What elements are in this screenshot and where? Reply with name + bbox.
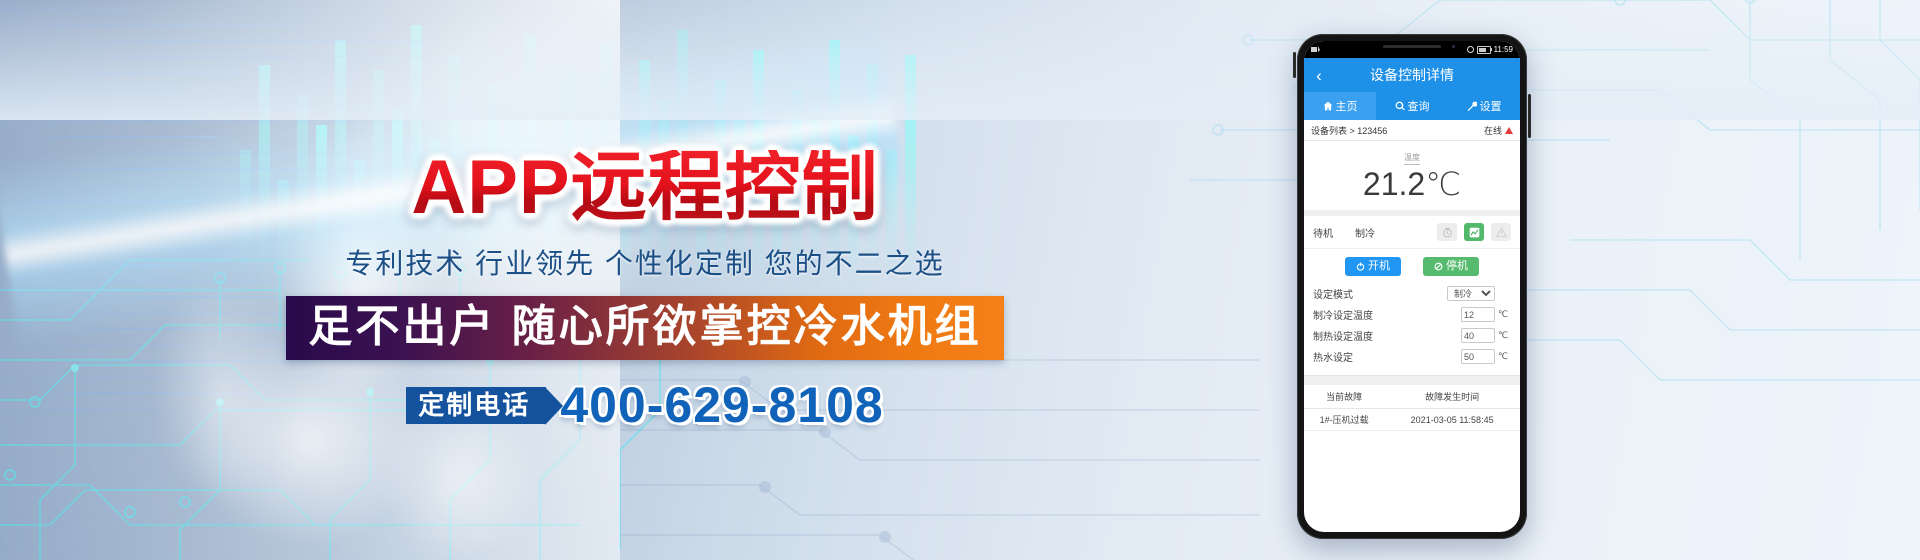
promo-text-block: APP远程控制 专利技术 行业领先 个性化定制 您的不二之选 足不出户 随心所欲… [0, 150, 1290, 430]
cool-temp-input[interactable] [1461, 307, 1495, 322]
setting-label-hot-water: 热水设定 [1313, 349, 1461, 364]
unit-hot-water: ℃ [1495, 351, 1511, 362]
heat-temp-input[interactable] [1461, 328, 1495, 343]
promo-ribbon-headline: 足不出户 随心所欲掌控冷水机组 [286, 296, 1003, 360]
temperature-value: 21.2℃ [1304, 168, 1520, 200]
tab-query-label: 查询 [1408, 98, 1430, 114]
stop-icon [1434, 262, 1443, 271]
fault-time-cell: 2021-03-05 11:58:45 [1384, 409, 1520, 431]
tab-settings-label: 设置 [1480, 98, 1502, 114]
warning-icon[interactable] [1505, 127, 1513, 134]
setting-row-mode: 设定模式 制冷 [1304, 283, 1520, 304]
connection-status-label: 在线 [1484, 124, 1502, 137]
status-bar: 11:59 [1304, 41, 1520, 58]
fault-table-header-row: 当前故障 故障发生时间 [1304, 385, 1520, 409]
tab-settings[interactable]: 设置 [1448, 92, 1520, 120]
mode-select[interactable]: 制冷 [1447, 286, 1495, 301]
status-bar-left-icons [1311, 46, 1320, 53]
power-icon [1356, 262, 1365, 271]
current-mode-label: 制冷 [1355, 225, 1375, 240]
chart-icon-button[interactable] [1464, 223, 1484, 241]
setting-label-cool-temp: 制冷设定温度 [1313, 307, 1461, 322]
tel-number[interactable]: 400-629-8108 [560, 380, 883, 430]
power-off-label: 停机 [1446, 261, 1468, 272]
alarm-icon [1496, 227, 1507, 238]
fault-column-time: 故障发生时间 [1384, 385, 1520, 409]
home-icon [1323, 101, 1333, 111]
fault-column-name: 当前故障 [1304, 385, 1384, 409]
section-divider [1304, 375, 1520, 385]
breadcrumb[interactable]: 设备列表 > 123456 [1311, 124, 1387, 137]
setting-label-mode: 设定模式 [1313, 286, 1447, 301]
sim-card-icon [1311, 46, 1320, 53]
wrench-icon [1467, 101, 1477, 111]
power-on-label: 开机 [1368, 261, 1390, 272]
back-button[interactable]: ‹ [1304, 67, 1334, 84]
battery-icon [1477, 46, 1491, 54]
location-icon [1467, 46, 1474, 53]
status-bar-right-icons: 11:59 [1467, 45, 1513, 54]
power-action-row: 开机 停机 [1304, 249, 1520, 283]
setting-row-heat-temp: 制热设定温度 ℃ [1304, 325, 1520, 346]
tab-home[interactable]: 主页 [1304, 92, 1376, 120]
front-camera-dot [1452, 45, 1455, 48]
tel-tag-label: 定制电话 [406, 387, 546, 424]
phone-mockup: 11:59 ‹ 设备控制详情 主页 查询 设置 [1297, 34, 1527, 539]
fault-name-cell: 1#-压机过载 [1304, 409, 1384, 431]
ribbon-wrapper: 足不出户 随心所欲掌控冷水机组 [0, 296, 1290, 360]
fault-table: 当前故障 故障发生时间 1#-压机过载 2021-03-05 11:58:45 [1304, 385, 1520, 431]
unit-cool-temp: ℃ [1495, 309, 1511, 320]
search-icon [1395, 101, 1405, 111]
standby-state-label: 待机 [1313, 225, 1333, 240]
timer-icon-button[interactable] [1437, 223, 1457, 241]
setting-label-heat-temp: 制热设定温度 [1313, 328, 1461, 343]
alarm-icon-button[interactable] [1491, 223, 1511, 241]
tab-home-label: 主页 [1336, 98, 1358, 114]
setting-row-hot-water: 热水设定 ℃ [1304, 346, 1520, 367]
contact-row: 定制电话 400-629-8108 [0, 380, 1290, 430]
setting-row-cool-temp: 制冷设定温度 ℃ [1304, 304, 1520, 325]
app-bar: ‹ 设备控制详情 [1304, 58, 1520, 92]
table-row[interactable]: 1#-压机过载 2021-03-05 11:58:45 [1304, 409, 1520, 431]
breadcrumb-bar: 设备列表 > 123456 在线 [1304, 120, 1520, 141]
promo-banner: APP远程控制 专利技术 行业领先 个性化定制 您的不二之选 足不出户 随心所欲… [0, 0, 1920, 560]
quick-icon-buttons [1437, 223, 1511, 241]
phone-screen: 11:59 ‹ 设备控制详情 主页 查询 设置 [1304, 41, 1520, 532]
chart-icon [1469, 227, 1480, 238]
temperature-label: 温度 [1404, 152, 1420, 165]
promo-subtitle: 专利技术 行业领先 个性化定制 您的不二之选 [0, 242, 1290, 282]
timer-icon [1442, 227, 1453, 238]
power-off-button[interactable]: 停机 [1423, 257, 1479, 276]
temperature-card: 温度 21.2℃ [1304, 141, 1520, 216]
tab-bar: 主页 查询 设置 [1304, 92, 1520, 120]
unit-heat-temp: ℃ [1495, 330, 1511, 341]
hot-water-input[interactable] [1461, 349, 1495, 364]
page-title: APP远程控制 [0, 150, 1290, 226]
tab-query[interactable]: 查询 [1376, 92, 1448, 120]
power-on-button[interactable]: 开机 [1345, 257, 1401, 276]
connection-status-badge: 在线 [1484, 124, 1513, 137]
speaker-notch [1383, 45, 1441, 48]
device-state-row: 待机 制冷 [1304, 216, 1520, 249]
app-bar-title: 设备控制详情 [1334, 65, 1520, 85]
status-bar-clock: 11:59 [1494, 45, 1513, 54]
